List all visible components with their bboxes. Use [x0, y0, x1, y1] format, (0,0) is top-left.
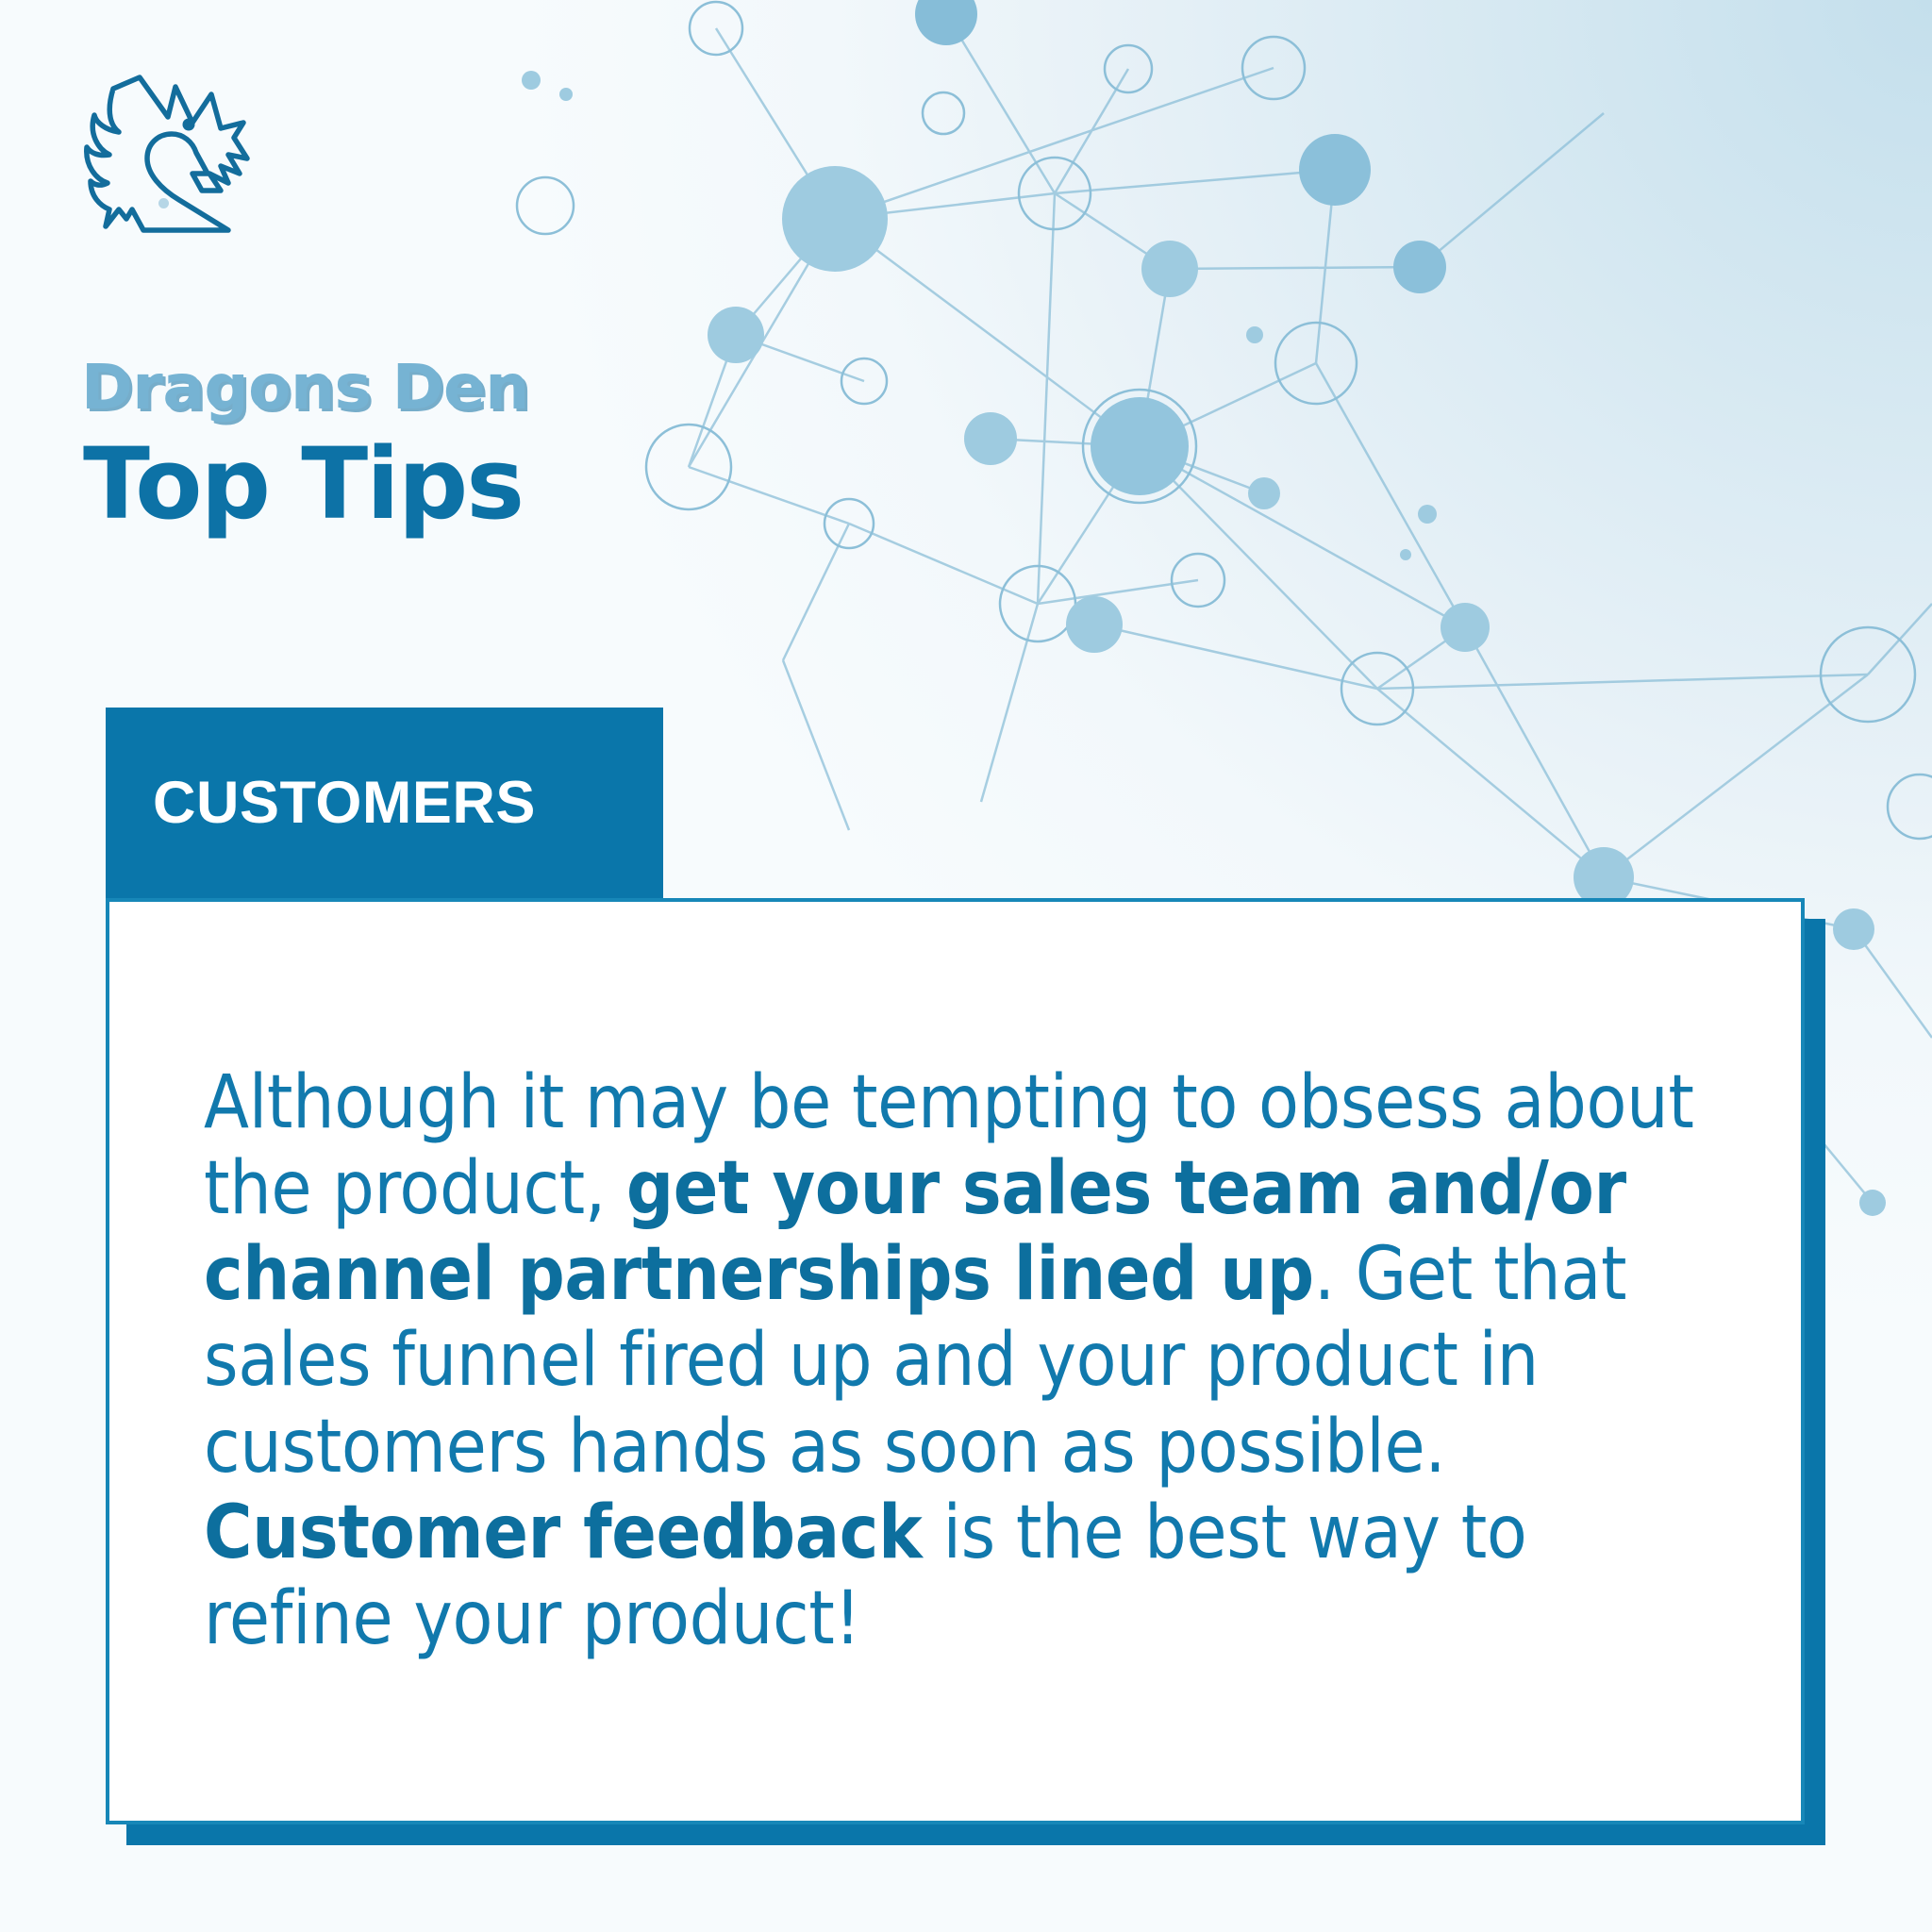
category-tab-label: CUSTOMERS: [106, 769, 536, 837]
page-title: Top Tips: [83, 426, 523, 541]
category-tab[interactable]: CUSTOMERS: [106, 708, 663, 898]
tip-card: Although it may be tempting to obsess ab…: [106, 898, 1805, 1824]
dragon-head-icon: [77, 68, 285, 247]
logo-accent-dot: [158, 198, 169, 208]
tip-text-emphasis: Customer feedback: [204, 1491, 922, 1575]
brand-eyebrow: Dragons Den: [81, 351, 529, 424]
tip-card-text: Although it may be tempting to obsess ab…: [109, 1060, 1801, 1663]
